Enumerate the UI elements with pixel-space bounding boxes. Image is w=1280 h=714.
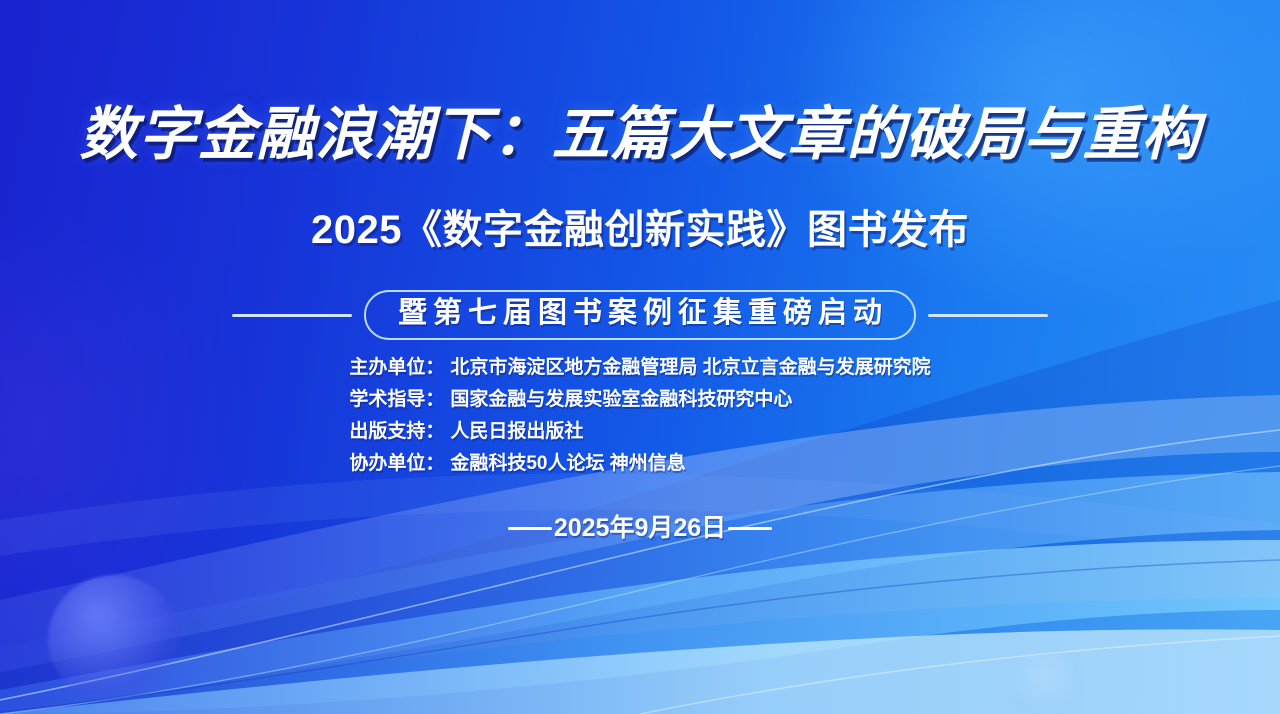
organizations-block: 主办单位：北京市海淀区地方金融管理局 北京立言金融与发展研究院 学术指导：国家金… <box>0 358 1280 473</box>
organization-value-publisher: 人民日报出版社 <box>450 421 583 442</box>
organization-row-coorganizer: 协办单位：金融科技50人论坛 神州信息 <box>349 454 930 473</box>
organization-label-host: 主办单位： <box>349 357 444 378</box>
organization-row-academic: 学术指导：国家金融与发展实验室金融科技研究中心 <box>349 390 930 409</box>
highlight-banner-pill: 暨第七届图书案例征集重磅启动 <box>364 290 916 340</box>
event-poster: 数字金融浪潮下：五篇大文章的破局与重构 2025《数字金融创新实践》图书发布 暨… <box>0 0 1280 714</box>
right-rule-divider <box>928 314 1048 317</box>
poster-subtitle: 2025《数字金融创新实践》图书发布 <box>0 210 1280 250</box>
left-rule-divider <box>232 314 352 317</box>
organization-row-host: 主办单位：北京市海淀区地方金融管理局 北京立言金融与发展研究院 <box>349 358 930 377</box>
organization-label-academic: 学术指导： <box>349 389 444 410</box>
organization-value-academic: 国家金融与发展实验室金融科技研究中心 <box>450 389 792 410</box>
event-date: 2025年9月26日 <box>552 516 728 541</box>
organization-row-publisher: 出版支持：人民日报出版社 <box>349 422 930 441</box>
poster-content: 数字金融浪潮下：五篇大文章的破局与重构 2025《数字金融创新实践》图书发布 暨… <box>0 0 1280 714</box>
organizations-list: 主办单位：北京市海淀区地方金融管理局 北京立言金融与发展研究院 学术指导：国家金… <box>349 358 930 473</box>
highlight-banner-row: 暨第七届图书案例征集重磅启动 <box>0 290 1280 340</box>
organization-value-host: 北京市海淀区地方金融管理局 北京立言金融与发展研究院 <box>450 357 930 378</box>
organization-label-coorganizer: 协办单位： <box>349 453 444 474</box>
event-date-row: 2025年9月26日 <box>0 516 1280 541</box>
organization-label-publisher: 出版支持： <box>349 421 444 442</box>
date-left-dash <box>508 527 552 530</box>
organization-value-coorganizer: 金融科技50人论坛 神州信息 <box>450 453 685 474</box>
date-right-dash <box>728 527 772 530</box>
page-title: 数字金融浪潮下：五篇大文章的破局与重构 <box>0 106 1280 164</box>
